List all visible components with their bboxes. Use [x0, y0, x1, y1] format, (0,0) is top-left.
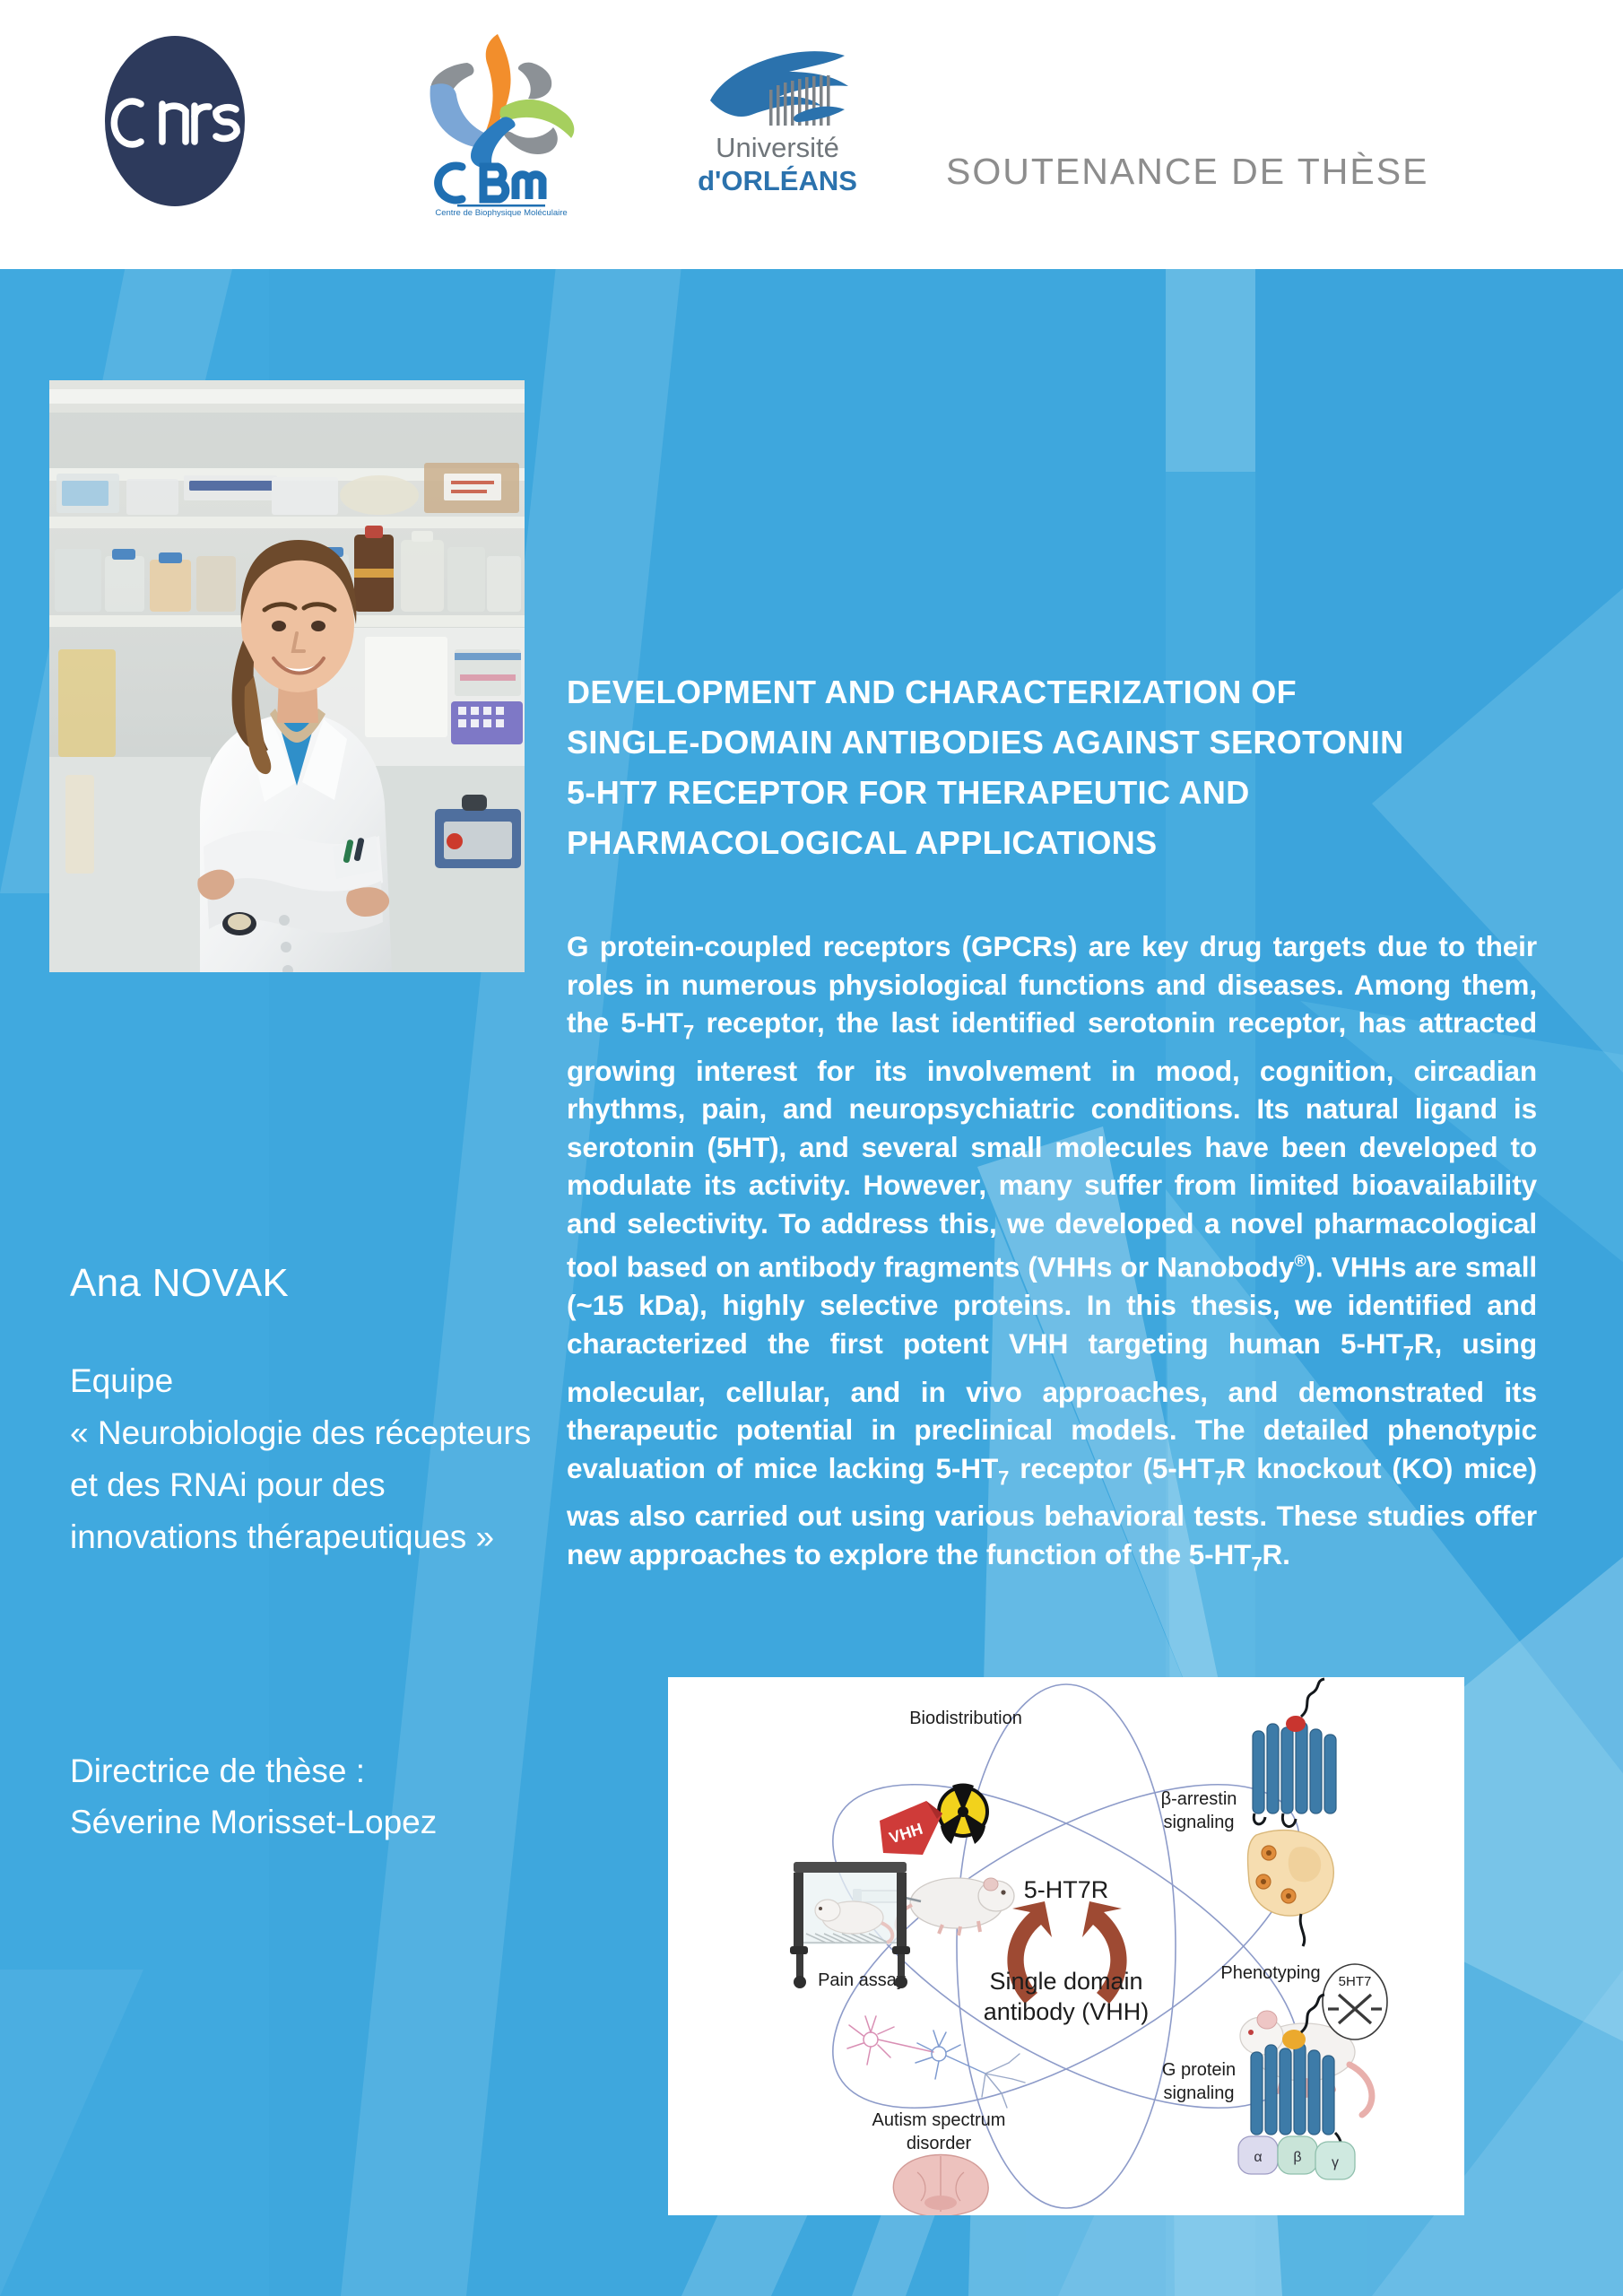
autism-label-line2: disorder — [907, 2134, 972, 2153]
candidate-name: Ana NOVAK — [70, 1261, 289, 1306]
center-label-bottom-2: antibody (VHH) — [984, 1998, 1150, 2025]
phenotyping-label: Phenotyping — [1220, 1963, 1320, 1983]
cbm-logo: Centre de Biophysique Moléculaire — [408, 25, 587, 218]
event-datetime: Lundi 3 novembre 2025 à 14h30 - Soutenan… — [108, 2292, 1112, 2296]
poster-body: Ana NOVAK Equipe « Neurobiologie des réc… — [0, 265, 1623, 2296]
thesis-title-line: PHARMACOLOGICAL APPLICATIONS — [567, 818, 1544, 868]
thesis-title: DEVELOPMENT AND CHARACTERIZATION OF SING… — [567, 667, 1544, 868]
brain-section-icon — [893, 2155, 988, 2216]
thesis-title-line: DEVELOPMENT AND CHARACTERIZATION OF — [567, 667, 1544, 717]
g-protein-label-line1: G protein — [1162, 2060, 1236, 2080]
advisor-label: Directrice de thèse : — [70, 1745, 572, 1796]
thesis-title-line: 5-HT7 RECEPTOR FOR THERAPEUTIC AND — [567, 768, 1544, 818]
header-band: Centre de Biophysique Moléculaire Univer… — [0, 0, 1623, 269]
beta-arrestin-label-line2: signaling — [1164, 1813, 1235, 1832]
cbm-subtitle: Centre de Biophysique Moléculaire — [435, 208, 567, 218]
orleans-label: d'ORLÉANS — [698, 165, 857, 196]
subunit-gamma: γ — [1332, 2155, 1339, 2170]
subunit-beta: β — [1293, 2150, 1301, 2165]
center-label-top: 5-HT7R — [1024, 1876, 1109, 1903]
team-name: « Neurobiologie des récepteurs et des RN… — [70, 1407, 536, 1563]
g-protein-subunits-icon: α β γ — [1238, 2136, 1355, 2179]
phenotyping-badge: 5HT7 — [1339, 1974, 1372, 1989]
pain-assay-label: Pain assay — [818, 1970, 906, 1990]
thesis-title-line: SINGLE-DOMAIN ANTIBODIES AGAINST SEROTON… — [567, 717, 1544, 768]
beta-arrestin-label-line1: β-arrestin — [1161, 1789, 1237, 1809]
cnrs-logo — [94, 34, 256, 209]
team-label: Equipe — [70, 1355, 536, 1407]
thesis-abstract: G protein-coupled receptors (GPCRs) are … — [567, 927, 1537, 1584]
center-label-bottom-1: Single domain — [989, 1968, 1142, 1995]
research-overview-figure: Biodistribution VHH — [668, 1677, 1464, 2215]
team-block: Equipe « Neurobiologie des récepteurs et… — [70, 1355, 536, 1563]
5ht7-crossed-out-icon: 5HT7 — [1323, 1964, 1387, 2039]
candidate-photo — [49, 380, 525, 972]
biodistribution-label: Biodistribution — [909, 1709, 1022, 1728]
advisor-name: Séverine Morisset-Lopez — [70, 1796, 572, 1848]
universite-label: Université — [716, 132, 839, 163]
advisor-block: Directrice de thèse : Séverine Morisset-… — [70, 1745, 572, 1848]
page-title: SOUTENANCE DE THÈSE — [946, 151, 1428, 193]
universite-orleans-logo: Université d'ORLÉANS — [681, 36, 874, 206]
autism-label-line1: Autism spectrum — [872, 2110, 1006, 2130]
subunit-alpha: α — [1254, 2150, 1262, 2165]
g-protein-label-line2: signaling — [1164, 2083, 1235, 2103]
